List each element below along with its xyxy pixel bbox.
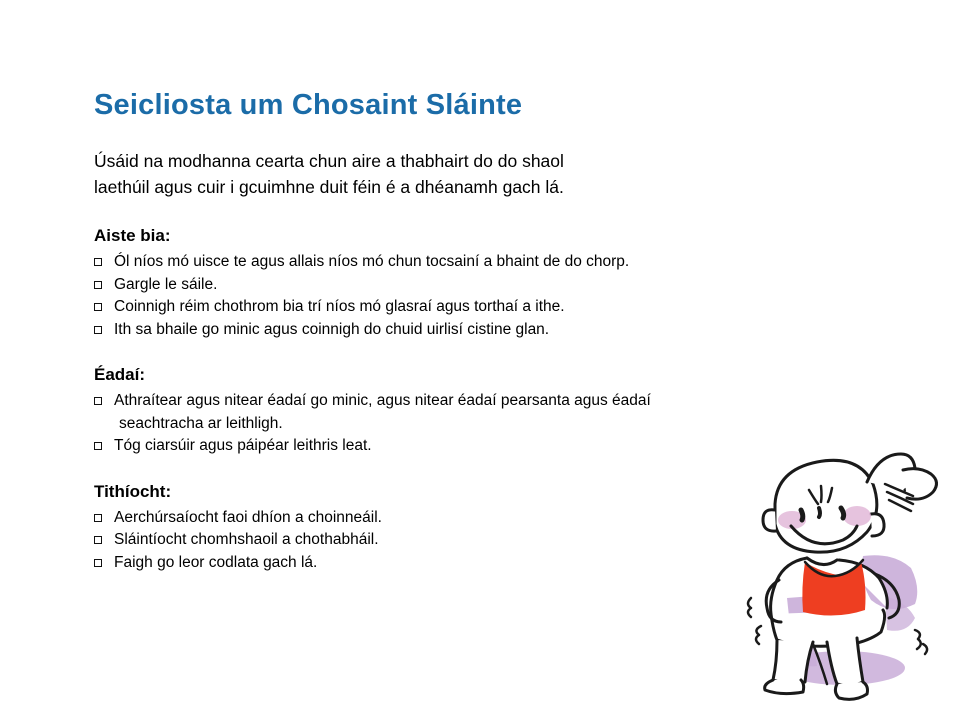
checkbox-icon[interactable] bbox=[94, 514, 102, 522]
checkbox-icon[interactable] bbox=[94, 397, 102, 405]
checkbox-icon[interactable] bbox=[94, 303, 102, 311]
section-eadai: Éadaí: Athraítear agus nitear éadaí go m… bbox=[94, 363, 854, 458]
checklist-item[interactable]: Ith sa bhaile go minic agus coinnigh do … bbox=[94, 319, 854, 342]
checkbox-icon[interactable] bbox=[94, 442, 102, 450]
page-title: Seicliosta um Chosaint Sláinte bbox=[94, 88, 854, 122]
checklist-item-label: Ól níos mó uisce te agus allais níos mó … bbox=[114, 251, 854, 274]
checkbox-icon[interactable] bbox=[94, 559, 102, 567]
checkbox-icon[interactable] bbox=[94, 536, 102, 544]
checklist-item-label: Gargle le sáile. bbox=[114, 274, 854, 297]
checklist-item[interactable]: Gargle le sáile. bbox=[94, 274, 854, 297]
slide-canvas: Seicliosta um Chosaint Sláinte Úsáid na … bbox=[0, 0, 960, 720]
checkbox-icon[interactable] bbox=[94, 326, 102, 334]
intro-line-1: Úsáid na modhanna cearta chun aire a tha… bbox=[94, 148, 854, 174]
checklist-item[interactable]: Athraítear agus nitear éadaí go minic, a… bbox=[94, 390, 854, 435]
cartoon-child-illustration bbox=[735, 448, 960, 710]
checklist-item-label-continued: seachtracha ar leithligh. bbox=[114, 413, 854, 436]
checklist-item-label: Athraítear agus nitear éadaí go minic, a… bbox=[114, 390, 854, 413]
checkbox-icon[interactable] bbox=[94, 281, 102, 289]
checklist-item-label: Coinnigh réim chothrom bia trí níos mó g… bbox=[114, 296, 854, 319]
checklist-item[interactable]: Coinnigh réim chothrom bia trí níos mó g… bbox=[94, 296, 854, 319]
intro-paragraph: Úsáid na modhanna cearta chun aire a tha… bbox=[94, 148, 854, 200]
section-heading-eadai: Éadaí: bbox=[94, 363, 854, 387]
intro-line-2: laethúil agus cuir i gcuimhne duit féin … bbox=[94, 174, 854, 200]
section-aiste-bia: Aiste bia: Ól níos mó uisce te agus alla… bbox=[94, 224, 854, 341]
checklist-aiste-bia: Ól níos mó uisce te agus allais níos mó … bbox=[94, 251, 854, 341]
checklist-item-label: Ith sa bhaile go minic agus coinnigh do … bbox=[114, 319, 854, 342]
checkbox-icon[interactable] bbox=[94, 258, 102, 266]
checklist-item[interactable]: Ól níos mó uisce te agus allais níos mó … bbox=[94, 251, 854, 274]
section-heading-aiste-bia: Aiste bia: bbox=[94, 224, 854, 248]
